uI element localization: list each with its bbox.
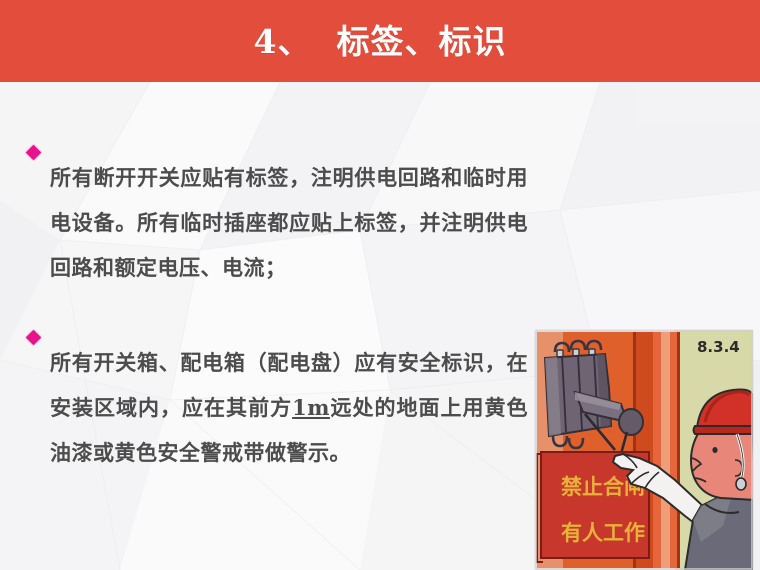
- slide-title-bar: 4、 标签、标识: [0, 0, 760, 82]
- diamond-bullet-icon: [26, 330, 42, 346]
- bullet-item-1: 所有断开开关应贴有标签，注明供电回路和临时用电设备。所有临时插座都应贴上标签，并…: [28, 134, 528, 311]
- bullet-text-2: 所有开关箱、配电箱（配电盘）应有安全标识，在安装区域内，应在其前方1m远处的地面…: [50, 340, 528, 475]
- page-title: 4、 标签、标识: [254, 25, 507, 58]
- figure-number-label: 8.3.4: [697, 338, 740, 356]
- bullet-text-1: 所有断开开关应贴有标签，注明供电回路和临时用电设备。所有临时插座都应贴上标签，并…: [50, 155, 528, 290]
- electrical-lockout-tagout-illustration: 禁止合闸 有人工作: [535, 330, 753, 570]
- bullet-item-2: 所有开关箱、配电箱（配电盘）应有安全标识，在安装区域内，应在其前方1m远处的地面…: [28, 319, 528, 496]
- warning-sign-line2: 有人工作: [561, 520, 645, 545]
- bullet-text-2-distance-value: 1m: [292, 395, 330, 420]
- bullet-text-1-main: 所有断开开关应贴有标签，注明供电回路和临时用电设备。所有临时插座都应贴上标签，并…: [50, 165, 528, 280]
- illustration-artwork: 禁止合闸 有人工作: [535, 330, 753, 570]
- diamond-bullet-icon: [26, 145, 42, 161]
- slide-root: 4、 标签、标识 所有断开开关应贴有标签，注明供电回路和临时用电设备。所有临时插…: [0, 0, 760, 570]
